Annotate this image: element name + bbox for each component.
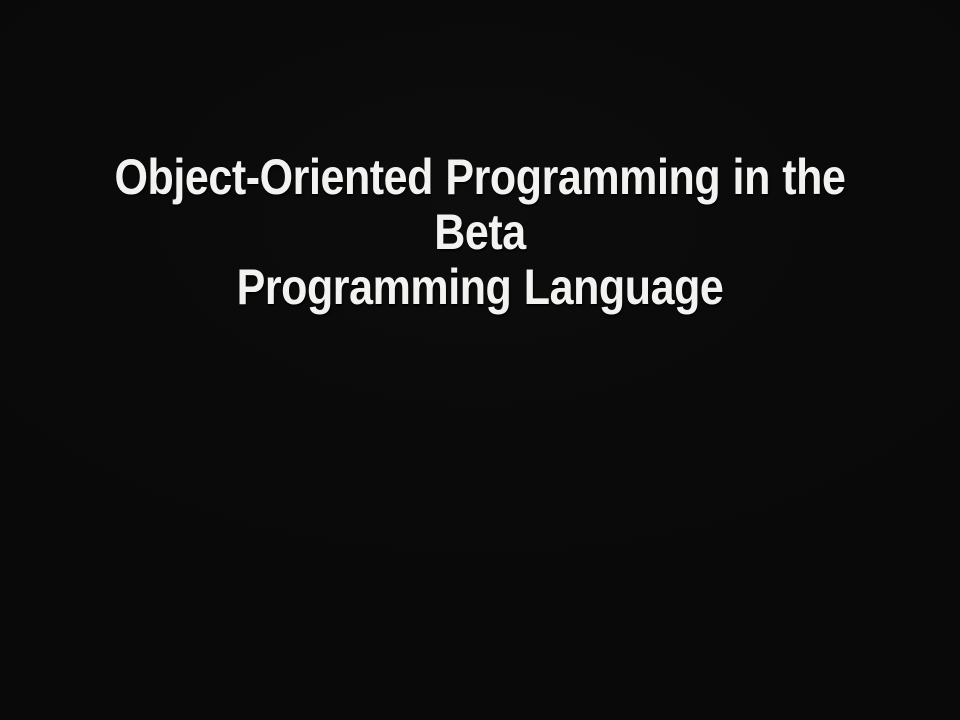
cover-empty-area: [0, 280, 960, 720]
book-cover-image: Object-Oriented Programming in the Beta …: [0, 0, 960, 720]
